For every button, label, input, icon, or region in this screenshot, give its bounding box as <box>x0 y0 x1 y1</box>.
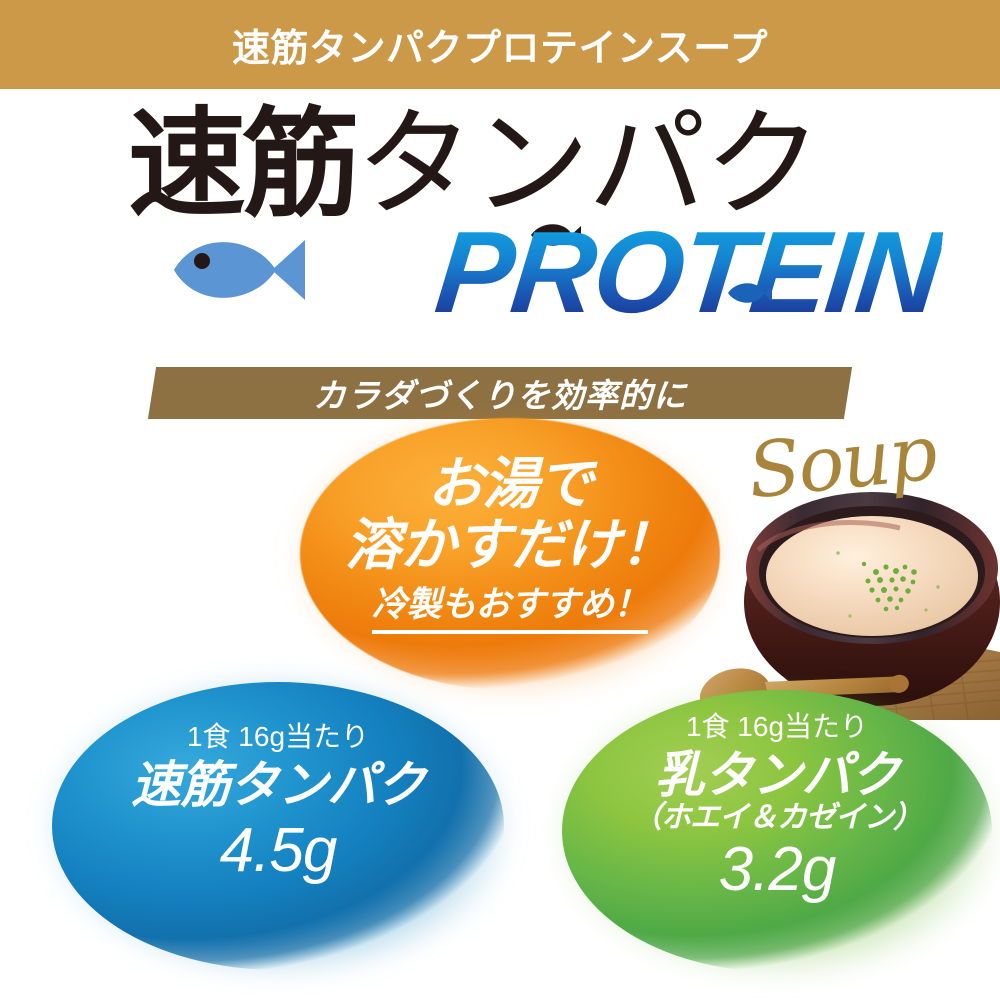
brand-logo: 速筋タンパク PROTEIN <box>0 92 1000 357</box>
green-nutrition-text: 1食 16g当たり 乳タンパク （ホエイ＆カゼイン） 3.2g <box>562 712 992 905</box>
green-nutrient-name: 乳タンパク <box>562 747 992 804</box>
blue-serving-note: 1食 16g当たり <box>52 722 504 753</box>
header-title: 速筋タンパクプロテインスープ <box>0 0 1000 89</box>
orange-callout-line1: お湯で <box>300 455 720 513</box>
blue-nutrient-name: 速筋タンパク <box>52 757 504 814</box>
green-serving-note: 1食 16g当たり <box>562 712 992 743</box>
soup-surface <box>766 516 978 636</box>
orange-callout-line3: 冷製もおすすめ！ <box>372 586 648 635</box>
fish-icon <box>172 234 307 306</box>
blue-nutrition-text: 1食 16g当たり 速筋タンパク 4.5g <box>52 722 504 885</box>
logo-jp-bold: 速筋 <box>128 99 356 231</box>
orange-callout-text: お湯で 溶かすだけ！ 冷製もおすすめ！ <box>300 455 720 634</box>
orange-callout-line2: 溶かすだけ！ <box>300 515 720 575</box>
fish-icon <box>727 281 773 305</box>
blue-nutrient-amount: 4.5g <box>52 816 504 885</box>
green-nutrient-subnote: （ホエイ＆カゼイン） <box>562 802 992 834</box>
logo-protein-text: PROTEIN <box>431 214 945 330</box>
soup-script-label: Soup <box>745 414 939 509</box>
green-nutrient-amount: 3.2g <box>562 835 992 904</box>
product-advertisement-page: 速筋タンパクプロテインスープ 速筋タンパク PROTEIN カラダづくりを効率的… <box>0 0 1000 1000</box>
